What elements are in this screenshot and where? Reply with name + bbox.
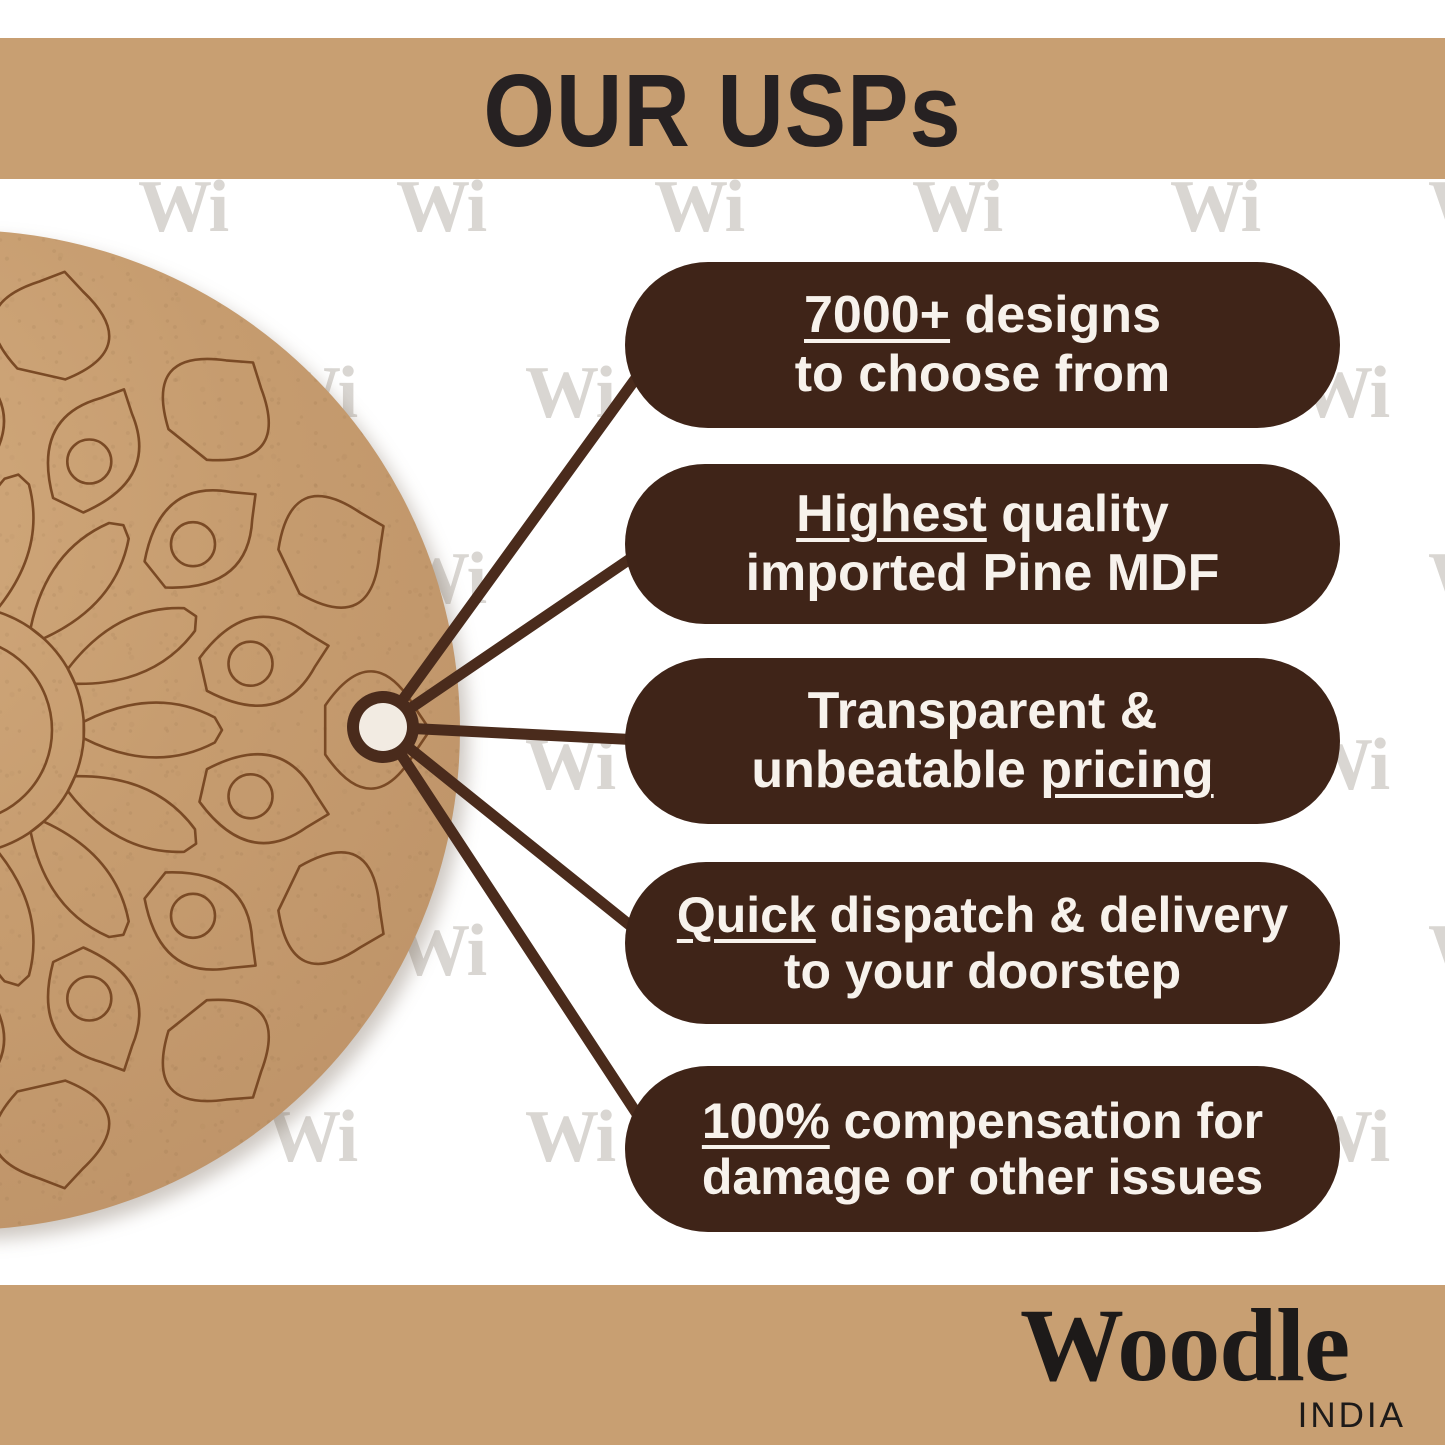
- infographic-canvas: WiWiWiWiWiWiWiWiWiWiWiWiWiWiWiWiWiWiWiWi…: [0, 0, 1445, 1445]
- usp-line-1: Highest quality: [796, 485, 1169, 544]
- usp-line-1: Quick dispatch & delivery: [677, 887, 1288, 944]
- usp-line-1: 7000+ designs: [804, 286, 1161, 345]
- connector-to-pricing: [383, 727, 660, 741]
- usp-rest: quality: [987, 485, 1169, 543]
- brand-region: INDIA: [1298, 1398, 1406, 1433]
- usp-line-2: imported Pine MDF: [746, 544, 1220, 603]
- usp-rest: to your doorstep: [784, 943, 1181, 999]
- usp-rest: compensation for: [830, 1093, 1263, 1149]
- usp-rest: unbeatable: [751, 741, 1040, 799]
- usp-card-designs[interactable]: 7000+ designs to choose from: [625, 262, 1340, 428]
- usp-line-1: Transparent &: [808, 682, 1158, 741]
- usp-line-2: to your doorstep: [784, 943, 1181, 1000]
- usp-rest: Transparent &: [808, 682, 1158, 740]
- usp-card-pricing[interactable]: Transparent & unbeatable pricing: [625, 658, 1340, 824]
- usp-line-2: damage or other issues: [702, 1149, 1263, 1206]
- usp-highlight: Quick: [677, 887, 816, 943]
- brand-logo: Woodle INDIA: [1020, 1300, 1410, 1435]
- connector-to-compensation: [383, 727, 660, 1149]
- usp-rest: designs: [950, 286, 1161, 344]
- connector-to-dispatch: [383, 727, 652, 943]
- page-title: OUR USPs: [0, 60, 1445, 163]
- hub-core: [359, 703, 407, 751]
- usp-card-compensation[interactable]: 100% compensation for damage or other is…: [625, 1066, 1340, 1232]
- usp-rest: imported Pine MDF: [746, 544, 1220, 602]
- usp-line-1: 100% compensation for: [702, 1093, 1263, 1150]
- usp-highlight: pricing: [1040, 741, 1213, 799]
- usp-highlight: Highest: [796, 485, 987, 543]
- usp-highlight: 7000+: [804, 286, 950, 344]
- usp-rest: to choose from: [795, 345, 1171, 403]
- brand-name: Woodle: [1020, 1294, 1410, 1398]
- usp-card-quality[interactable]: Highest quality imported Pine MDF: [625, 464, 1340, 624]
- usp-rest: dispatch & delivery: [816, 887, 1288, 943]
- connector-to-quality: [383, 544, 652, 727]
- connector-to-designs: [383, 345, 660, 727]
- usp-highlight: 100%: [702, 1093, 830, 1149]
- usp-line-2: to choose from: [795, 345, 1171, 404]
- usp-rest: damage or other issues: [702, 1149, 1263, 1205]
- usp-line-2: unbeatable pricing: [751, 741, 1213, 800]
- usp-card-dispatch[interactable]: Quick dispatch & delivery to your doorst…: [625, 862, 1340, 1024]
